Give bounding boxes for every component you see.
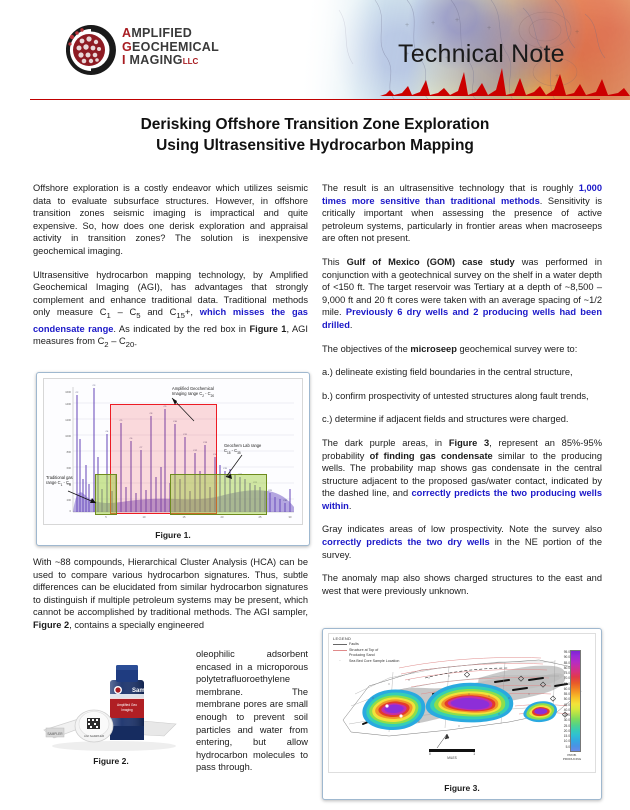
- figure-2: SAMPLER Sam Amplified Geo Imaging: [36, 650, 186, 790]
- page-title: Derisking Offshore Transition Zone Explo…: [0, 114, 630, 156]
- logo-wordmark: AMPLIFIED GEOCHEMICAL I MAGINGLLC: [122, 27, 219, 69]
- right-paragraph-3: The objectives of the microseep geochemi…: [322, 343, 602, 356]
- svg-text:+: +: [431, 20, 435, 27]
- objective-a: a.) delineate existing field boundaries …: [322, 366, 602, 379]
- sampler-bottle: Sam Amplified Geo Imaging: [110, 665, 145, 740]
- logo-line-1: AMPLIFIED: [122, 27, 219, 41]
- map-scale-bar: 0 1 MILES: [429, 749, 475, 760]
- legend-item-faults: Faults: [333, 642, 399, 647]
- traditional-annotation-leader: [66, 485, 100, 507]
- right-paragraph-8: Gray indicates areas of low prospectivit…: [322, 523, 602, 561]
- svg-text:+: +: [575, 29, 579, 36]
- figure-3-image: LEGEND Faults Structure at Top of Produc…: [328, 633, 596, 773]
- logo-line-2: GEOCHEMICAL: [122, 41, 219, 55]
- company-logo[interactable]: AMPLIFIED GEOCHEMICAL I MAGINGLLC: [66, 25, 241, 77]
- header-divider-rule: [30, 99, 600, 100]
- fault-line-icon: [333, 644, 347, 645]
- geochem-lab-range-box: [170, 474, 267, 515]
- scale-bar-unit: MILES: [429, 756, 475, 760]
- figure-2-sampler-image: SAMPLER Sam Amplified Geo Imaging: [36, 650, 186, 755]
- svg-text:Sam: Sam: [132, 688, 145, 694]
- producing-well-marker: [399, 714, 402, 717]
- colorbar-tick-labels: 95.090.0 85.080.0 75.070.0 65.060.0 55.0…: [556, 650, 570, 750]
- left-column-lower: With ~88 compounds, Hierarchical Cluster…: [33, 556, 308, 643]
- map-legend: LEGEND Faults Structure at Top of Produc…: [333, 636, 399, 664]
- document-type-label: Technical Note: [398, 40, 565, 69]
- right-column: The result is an ultrasensitive technolo…: [322, 182, 602, 608]
- structure-contour-icon: [333, 650, 347, 651]
- svg-text:1400: 1400: [65, 402, 71, 406]
- svg-text:600: 600: [67, 466, 72, 470]
- sampler-lid: AGI SAMPLER: [75, 710, 113, 742]
- figure-1: 160014001200 1000800600 4002000 51015 20…: [36, 372, 310, 546]
- left-paragraph-1: Offshore exploration is a costly endeavo…: [33, 182, 308, 258]
- right-paragraph-1: The result is an ultrasensitive technolo…: [322, 182, 602, 245]
- legend-title: LEGEND: [333, 636, 399, 641]
- objective-b: b.) confirm prospectivity of untested st…: [322, 390, 602, 403]
- core-sample-dot-icon: ·: [333, 659, 347, 664]
- legend-item-core-sample: · Sea Bed Core Sample Location: [333, 659, 399, 664]
- figure-1-image: 160014001200 1000800600 4002000 51015 20…: [43, 378, 303, 525]
- svg-text:+: +: [487, 25, 491, 32]
- svg-text:+: +: [405, 22, 409, 29]
- title-line-2: Using Ultrasensitive Hydrocarbon Mapping: [0, 135, 630, 156]
- title-line-1: Derisking Offshore Transition Zone Explo…: [0, 114, 630, 135]
- producing-well-marker: [385, 704, 388, 707]
- svg-text:1000: 1000: [65, 434, 71, 438]
- right-paragraph-7: The dark purple areas, in Figure 3, repr…: [322, 437, 602, 513]
- svg-text:+: +: [455, 17, 459, 24]
- left-paragraph-3: With ~88 compounds, Hierarchical Cluster…: [33, 556, 308, 632]
- figure-1-caption: Figure 1.: [37, 530, 309, 540]
- figure-2-caption: Figure 2.: [36, 756, 186, 766]
- left-column: Offshore exploration is a costly endeavo…: [33, 182, 308, 363]
- page-header: + + + + + + + + + + Technical Note: [0, 0, 630, 100]
- right-paragraph-9: The anomaly map also shows charged struc…: [322, 572, 602, 597]
- figure-3: LEGEND Faults Structure at Top of Produc…: [322, 628, 602, 800]
- left-paragraph-2: Ultrasensitive hydrocarbon mapping techn…: [33, 269, 308, 352]
- logo-mark-icon: [66, 25, 116, 75]
- agi-annotation-leader: [164, 397, 204, 427]
- svg-text:1200: 1200: [65, 418, 71, 422]
- svg-text:SAMPLER: SAMPLER: [47, 732, 63, 736]
- legend-item-structure: Structure at Top of Producing Sand: [333, 648, 399, 658]
- header-image-fade: [255, 0, 385, 100]
- objective-c: c.) determine if adjacent fields and str…: [322, 413, 602, 426]
- svg-text:Amplified Geo: Amplified Geo: [117, 703, 137, 707]
- logo-line-3: I MAGINGLLC: [122, 54, 219, 69]
- header-spectrum-spikes: [380, 66, 630, 96]
- svg-text:800: 800: [67, 450, 72, 454]
- geochem-annotation-leader: [222, 453, 248, 481]
- colorbar-caption: PROB. PRODUCING: [559, 754, 585, 761]
- left-paragraph-4: oleophilic adsorbent encased in a microp…: [196, 648, 308, 774]
- probability-colorbar: [570, 650, 581, 752]
- svg-text:Imaging: Imaging: [121, 708, 133, 712]
- svg-text:AGI SAMPLER: AGI SAMPLER: [84, 734, 105, 738]
- right-paragraph-2: This Gulf of Mexico (GOM) case study was…: [322, 256, 602, 332]
- svg-text:1600: 1600: [65, 390, 71, 394]
- figure-3-caption: Figure 3.: [323, 783, 601, 793]
